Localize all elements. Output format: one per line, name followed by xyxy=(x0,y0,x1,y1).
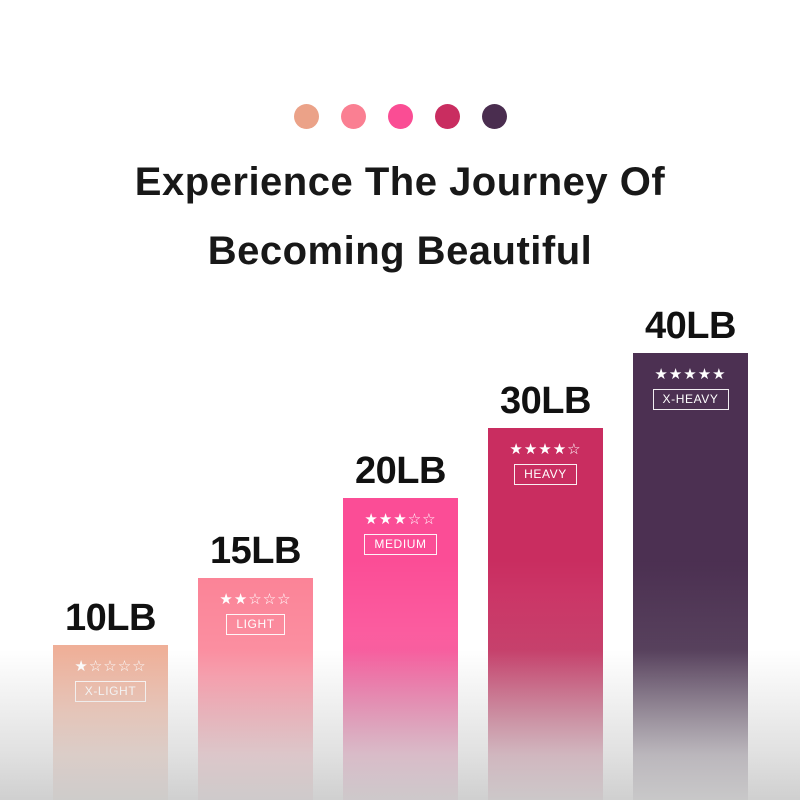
bar-content: ★★★★☆HEAVY xyxy=(488,442,603,485)
bar-content: ★★★★★X-HEAVY xyxy=(633,367,748,410)
poster-canvas: Experience The Journey Of Becoming Beaut… xyxy=(0,0,800,800)
bar-fill xyxy=(633,353,748,800)
bar-group-30lb[interactable]: 30LB★★★★☆HEAVY xyxy=(488,428,603,800)
resistance-band-bar-chart: 10LB★☆☆☆☆X-LIGHT15LB★★☆☆☆LIGHT20LB★★★☆☆M… xyxy=(0,0,800,800)
bar-column[interactable]: ★★☆☆☆LIGHT xyxy=(198,578,313,800)
bar-content: ★☆☆☆☆X-LIGHT xyxy=(53,659,168,702)
bar-value-label: 30LB xyxy=(500,382,591,420)
resistance-level-badge: X-HEAVY xyxy=(653,389,729,410)
resistance-level-badge: HEAVY xyxy=(514,464,577,485)
bar-column[interactable]: ★★★☆☆MEDIUM xyxy=(343,498,458,800)
bar-group-15lb[interactable]: 15LB★★☆☆☆LIGHT xyxy=(198,578,313,800)
bar-column[interactable]: ★☆☆☆☆X-LIGHT xyxy=(53,645,168,800)
bar-value-label: 10LB xyxy=(65,599,156,637)
bar-group-20lb[interactable]: 20LB★★★☆☆MEDIUM xyxy=(343,498,458,800)
star-rating-icon: ★★★☆☆ xyxy=(364,512,436,527)
star-rating-icon: ★★★★★ xyxy=(654,367,726,382)
bar-value-label: 15LB xyxy=(210,532,301,570)
resistance-level-badge: LIGHT xyxy=(226,614,284,635)
bar-group-40lb[interactable]: 40LB★★★★★X-HEAVY xyxy=(633,353,748,800)
star-rating-icon: ★★☆☆☆ xyxy=(219,592,291,607)
bar-column[interactable]: ★★★★☆HEAVY xyxy=(488,428,603,800)
star-rating-icon: ★★★★☆ xyxy=(509,442,581,457)
resistance-level-badge: X-LIGHT xyxy=(75,681,147,702)
bar-value-label: 40LB xyxy=(645,307,736,345)
bar-column[interactable]: ★★★★★X-HEAVY xyxy=(633,353,748,800)
bar-content: ★★☆☆☆LIGHT xyxy=(198,592,313,635)
bar-content: ★★★☆☆MEDIUM xyxy=(343,512,458,555)
star-rating-icon: ★☆☆☆☆ xyxy=(74,659,146,674)
resistance-level-badge: MEDIUM xyxy=(364,534,436,555)
bar-group-10lb[interactable]: 10LB★☆☆☆☆X-LIGHT xyxy=(53,645,168,800)
bar-value-label: 20LB xyxy=(355,452,446,490)
